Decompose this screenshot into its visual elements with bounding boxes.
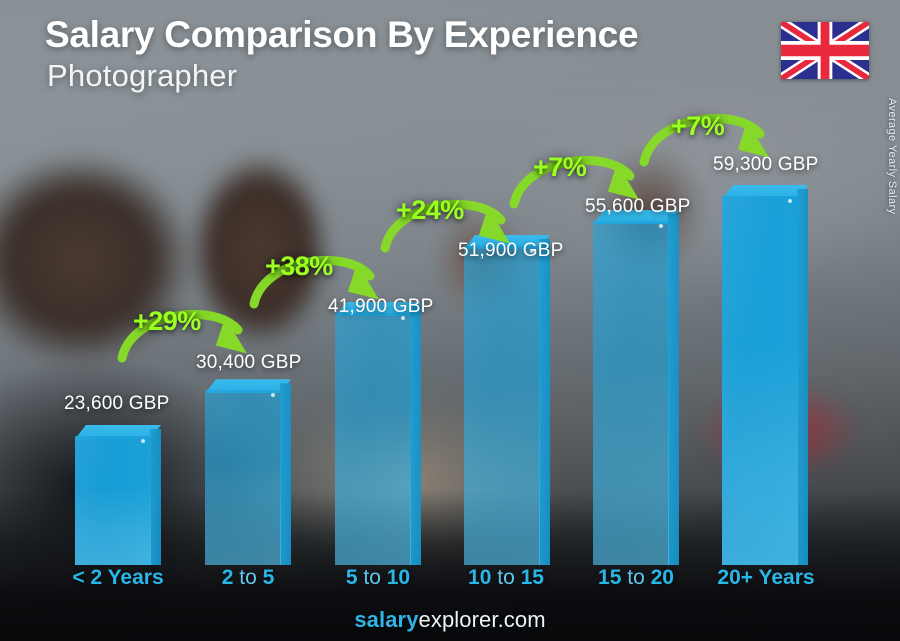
bar-front-sheen xyxy=(464,246,540,565)
category-label-5: 20+ Years xyxy=(696,566,836,590)
uk-flag-icon xyxy=(781,22,869,79)
category-label-4: 15 to 20 xyxy=(566,566,706,590)
bar-side-face xyxy=(539,239,550,565)
bar-side-face xyxy=(797,189,808,565)
brand-rest-text: explorer.com xyxy=(419,607,546,632)
bar-highlight-dot xyxy=(659,224,663,228)
brand-bold-text: salary xyxy=(354,607,418,632)
bar-2 xyxy=(335,302,421,565)
category-text-mid: to xyxy=(363,566,381,589)
bar-front-sheen xyxy=(75,436,151,565)
delta-label-1: +38% xyxy=(265,251,333,282)
value-label-0: 23,600 GBP xyxy=(64,393,170,415)
page-title: Salary Comparison By Experience xyxy=(45,14,638,56)
category-label-0: < 2 Years xyxy=(48,566,188,590)
delta-label-2: +24% xyxy=(396,195,464,226)
category-label-2: 5 to 10 xyxy=(308,566,448,590)
category-text-mid: to xyxy=(239,566,257,589)
bar-side-face xyxy=(410,306,421,565)
bar-front-sheen xyxy=(722,196,798,565)
category-text-post: 20 xyxy=(645,566,674,589)
delta-label-4: +7% xyxy=(671,111,724,142)
delta-label-3: +7% xyxy=(533,152,586,183)
bar-front-sheen xyxy=(205,390,281,565)
category-text-pre: < 2 Years xyxy=(72,566,163,589)
bar-front-sheen xyxy=(593,221,669,565)
bar-1 xyxy=(205,379,291,565)
bar-highlight-dot xyxy=(141,439,145,443)
bar-side-face xyxy=(150,429,161,565)
category-label-1: 2 to 5 xyxy=(178,566,318,590)
site-brand[interactable]: salaryexplorer.com xyxy=(0,607,900,633)
bar-0 xyxy=(75,425,161,565)
category-text-pre: 2 xyxy=(222,566,240,589)
delta-label-0: +29% xyxy=(133,306,201,337)
category-text-pre: 10 xyxy=(468,566,497,589)
category-label-3: 10 to 15 xyxy=(436,566,576,590)
y-axis-caption: Average Yearly Salary xyxy=(886,98,898,248)
category-text-mid: to xyxy=(497,566,515,589)
page-subtitle: Photographer xyxy=(47,58,237,94)
bar-5 xyxy=(722,185,808,565)
bar-3 xyxy=(464,235,550,565)
category-text-mid: to xyxy=(627,566,645,589)
category-text-post: 5 xyxy=(257,566,275,589)
bar-front-sheen xyxy=(335,313,411,565)
bar-side-face xyxy=(280,383,291,565)
bar-4 xyxy=(593,210,679,565)
bar-side-face xyxy=(668,214,679,565)
chart-canvas: Salary Comparison By Experience Photogra… xyxy=(0,0,900,641)
category-text-post: 15 xyxy=(515,566,544,589)
bar-highlight-dot xyxy=(788,199,792,203)
category-text-pre: 15 xyxy=(598,566,627,589)
category-text-pre: 5 xyxy=(346,566,364,589)
category-text-pre: 20+ Years xyxy=(717,566,814,589)
category-text-post: 10 xyxy=(381,566,410,589)
